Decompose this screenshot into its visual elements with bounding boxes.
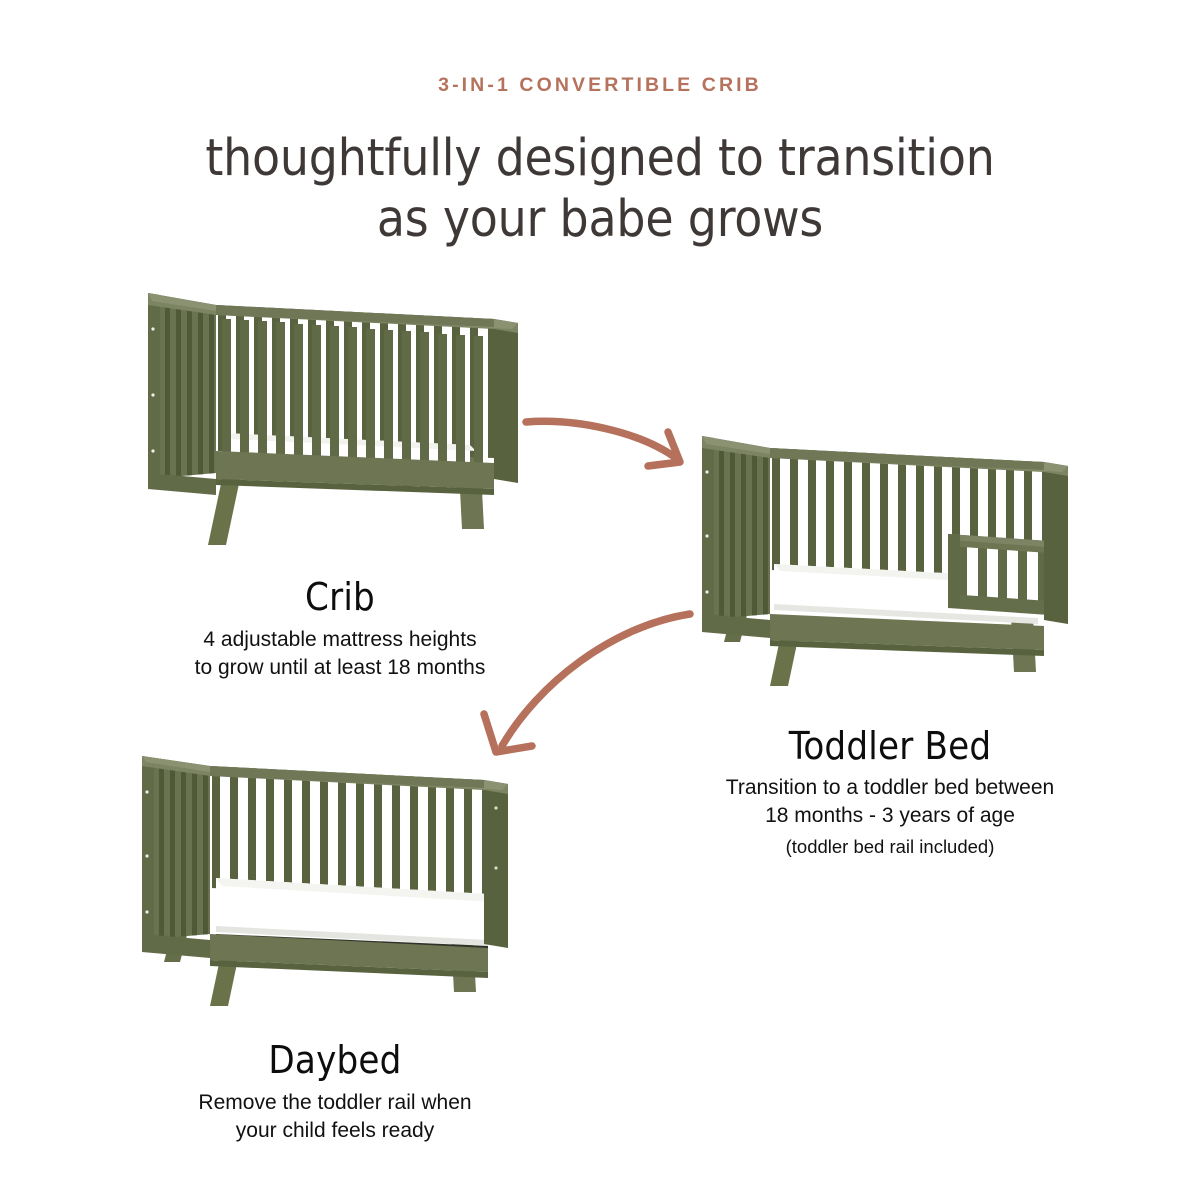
daybed-title: Daybed (85, 1038, 585, 1082)
toddler-desc-note: (toddler bed rail included) (630, 834, 1150, 860)
toddler-bed-title: Toddler Bed (640, 724, 1140, 768)
daybed-illustration (132, 748, 516, 1016)
toddler-desc-line-1: Transition to a toddler bed between (726, 776, 1054, 799)
crib-desc-line-1: 4 adjustable mattress heights (203, 628, 476, 651)
toddler-bed-description: Transition to a toddler bed between 18 m… (630, 774, 1150, 860)
arrow-toddler-to-daybed-icon (462, 588, 698, 770)
daybed-desc-line-2: your child feels ready (236, 1119, 434, 1142)
daybed-description: Remove the toddler rail when your child … (85, 1089, 585, 1145)
crib-desc-line-2: to grow until at least 18 months (195, 656, 486, 679)
crib-illustration (140, 283, 522, 565)
eyebrow-label: 3-IN-1 CONVERTIBLE CRIB (0, 74, 1200, 97)
headline-line-1: thoughtfully designed to transition (205, 129, 994, 188)
toddler-bed-illustration (692, 428, 1076, 696)
daybed-desc-line-1: Remove the toddler rail when (198, 1091, 471, 1114)
arrow-crib-to-toddler-icon (518, 402, 708, 488)
page-title: thoughtfully designed to transition as y… (0, 128, 1200, 250)
toddler-desc-line-2: 18 months - 3 years of age (765, 804, 1015, 827)
headline-line-2: as your babe grows (0, 189, 1200, 250)
